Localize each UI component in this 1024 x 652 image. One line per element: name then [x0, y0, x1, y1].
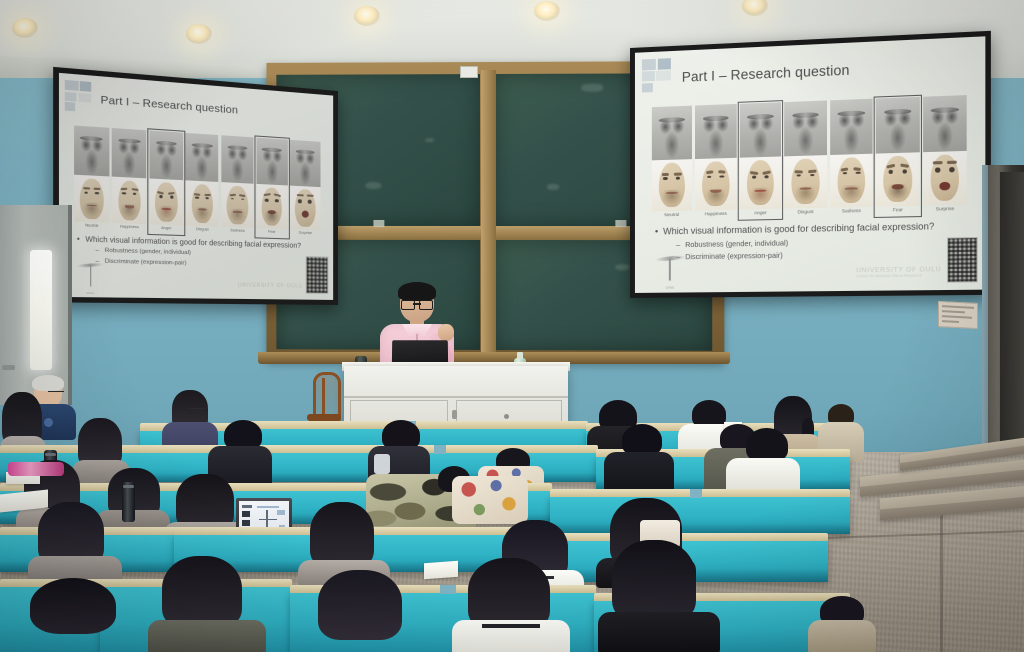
slide-decoration-blocks: [65, 80, 103, 121]
slide-watermark: UNIVERSITY OF OULU Center for Machine Vi…: [856, 266, 941, 279]
watermark-subtext: Center for Machine Vision Research: [856, 273, 941, 278]
slide-qr-logo: [306, 256, 328, 293]
grayscale-face: [785, 101, 827, 157]
slide-title: Part I – Research question: [100, 94, 238, 117]
bullet-sub-text: Robustness (gender, individual): [105, 248, 191, 258]
pink-bag: [8, 462, 64, 476]
bullet-marker: •: [77, 235, 80, 245]
slide-bullets: • Which visual information is good for d…: [655, 219, 971, 262]
watermark-text: UNIVERSITY OF OULU: [238, 282, 303, 289]
avatar-face: [290, 186, 321, 231]
bullet-marker: •: [655, 225, 658, 237]
ceiling-downlight: [186, 24, 212, 44]
face-label: Fear: [876, 206, 919, 216]
avatar-face: [221, 182, 253, 228]
face-label: Fear: [256, 228, 287, 237]
audience-person: [148, 556, 268, 652]
left-door-window: [30, 250, 52, 370]
grayscale-face: [149, 130, 183, 180]
glasses-icon: [401, 300, 433, 308]
face-label: Surprise: [290, 229, 321, 238]
grayscale-face: [290, 140, 321, 187]
expression-face-grid: Neutral Happiness: [652, 95, 967, 220]
right-projection-screen[interactable]: Part I – Research question Neutral: [630, 31, 991, 298]
slide-bullets: • Which visual information is good for d…: [77, 235, 323, 271]
grayscale-face: [876, 97, 919, 154]
face-label: Neutral: [652, 211, 692, 221]
face-column: Sadness: [221, 135, 253, 236]
avatar-face: [74, 175, 109, 223]
chalkboard-clip: [373, 220, 384, 227]
lectern-lock[interactable]: [452, 410, 457, 419]
audience-person: [452, 558, 572, 652]
grayscale-face: [112, 128, 146, 178]
face-label: Anger: [740, 209, 781, 219]
presenter-hair: [398, 282, 436, 301]
avatar-face: [186, 180, 219, 227]
slide-decoration-blocks: [642, 58, 686, 101]
avatar-face: [695, 158, 736, 210]
floral-jacket: [452, 476, 528, 524]
audience-person: [602, 424, 676, 494]
grayscale-face: [186, 133, 219, 182]
audience-person: [808, 596, 878, 652]
dash-marker: –: [95, 248, 99, 256]
avatar-face: [785, 155, 827, 208]
face-column: Sadness: [830, 99, 873, 217]
right-door-opening: [1000, 172, 1024, 462]
audience-person: [300, 570, 430, 652]
avatar-face: [256, 184, 287, 229]
bullet-sub-text: Discriminate (expression-pair): [105, 258, 187, 268]
cmvs-logo: cmvs: [74, 257, 106, 293]
grayscale-face: [256, 137, 287, 185]
face-column: Neutral: [652, 106, 692, 221]
grayscale-face: [695, 104, 736, 159]
face-label: Happiness: [112, 223, 146, 232]
face-column-highlighted: Anger: [740, 102, 781, 218]
chalkboard-clip: [615, 220, 626, 227]
grayscale-face: [830, 99, 873, 155]
slide-title: Part I – Research question: [682, 63, 850, 85]
avatar-face: [652, 159, 692, 211]
bullet-sub-text: Robustness (gender, individual): [685, 238, 788, 249]
slide-content-left: Part I – Research question Neutral: [59, 73, 333, 300]
slide-bullet-sub: – Robustness (gender, individual): [676, 235, 971, 250]
ceiling-sensor-box: [460, 66, 478, 78]
chalkboard-rail: [481, 70, 496, 354]
left-door-handle[interactable]: [2, 365, 15, 370]
face-label: Neutral: [74, 222, 109, 232]
audience-person: [28, 502, 124, 580]
face-column: Surprise: [290, 140, 321, 238]
face-label: Disgust: [186, 226, 219, 235]
slide-watermark: UNIVERSITY OF OULU: [238, 282, 303, 289]
bullet-main-text: Which visual information is good for des…: [663, 220, 934, 238]
face-label: Happiness: [695, 210, 736, 220]
avatar-face: [112, 177, 146, 225]
face-column-highlighted: Anger: [149, 130, 183, 233]
ceiling-downlight: [12, 18, 38, 38]
face-column: Neutral: [74, 125, 109, 231]
audience-person: [598, 540, 722, 652]
ceiling-downlight: [354, 6, 380, 26]
avatar-face: [830, 154, 873, 208]
slide-qr-logo: [946, 237, 978, 282]
face-label: Disgust: [785, 208, 827, 218]
expression-face-grid: Neutral Happiness: [74, 125, 321, 238]
lecture-hall-photo: Part I – Research question Neutral: [0, 0, 1024, 652]
cmvs-logo: cmvs: [652, 249, 689, 288]
avatar-face: [740, 157, 781, 210]
face-column-highlighted: Fear: [876, 97, 919, 216]
avatar-face: [149, 178, 183, 225]
slide-bullet-sub: – Discriminate (expression-pair): [676, 248, 971, 262]
logo-caption: cmvs: [77, 290, 104, 294]
slide-content-right: Part I – Research question Neutral: [635, 36, 985, 293]
avatar-face: [876, 152, 919, 206]
bullet-sub-text: Discriminate (expression-pair): [685, 251, 783, 262]
ceiling-downlight: [534, 1, 560, 21]
face-column: Surprise: [923, 95, 967, 215]
face-column: Happiness: [695, 104, 736, 220]
left-projection-screen[interactable]: Part I – Research question Neutral: [53, 67, 338, 305]
presenter-right-hand: [438, 324, 454, 341]
face-label: Sadness: [221, 227, 253, 236]
grayscale-face: [740, 102, 781, 157]
slide-bullet-main: • Which visual information is good for d…: [655, 219, 971, 237]
audience-person: [20, 578, 132, 652]
grayscale-face: [923, 95, 967, 152]
face-label: Surprise: [923, 204, 967, 214]
face-column: Disgust: [785, 101, 827, 218]
face-column: Disgust: [186, 133, 219, 235]
wall-notice-sign: [938, 301, 978, 329]
grayscale-face: [74, 125, 109, 176]
face-label: Sadness: [830, 207, 873, 217]
logo-caption: cmvs: [655, 285, 686, 289]
lectern-knob[interactable]: [504, 414, 509, 419]
face-label: Anger: [149, 224, 183, 233]
face-column: Happiness: [112, 128, 146, 233]
avatar-face: [923, 151, 967, 205]
grayscale-face: [652, 106, 692, 161]
face-column-highlighted: Fear: [256, 137, 287, 237]
grayscale-face: [221, 135, 253, 184]
